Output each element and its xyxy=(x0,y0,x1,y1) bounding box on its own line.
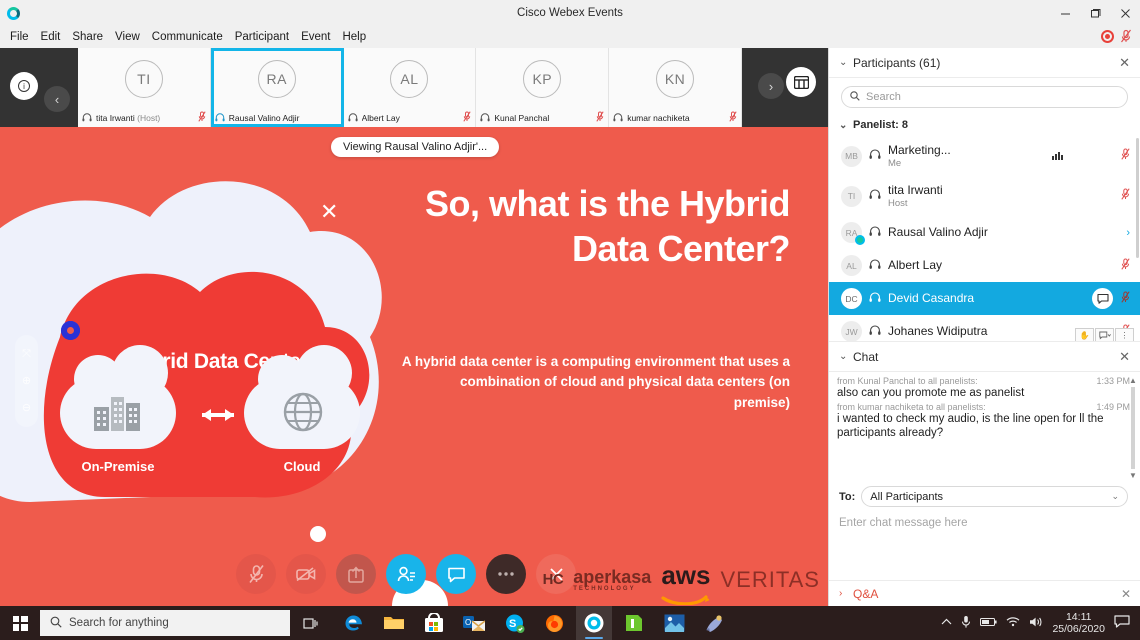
windows-start-icon[interactable] xyxy=(0,606,40,640)
mic-muted-icon xyxy=(198,109,206,127)
chevron-right-icon[interactable]: › xyxy=(1126,227,1130,239)
thumbnail-label-row: Kunal Panchal xyxy=(476,108,608,127)
menu-participant[interactable]: Participant xyxy=(229,29,295,45)
chevron-right-icon[interactable]: › xyxy=(839,588,853,599)
search-input[interactable]: Search xyxy=(841,86,1128,108)
headset-icon xyxy=(869,323,881,341)
headset-icon xyxy=(869,224,881,242)
aws-logo: aws xyxy=(661,565,710,594)
participant-row[interactable]: AL Albert Lay xyxy=(829,249,1140,282)
participants-list: MB Marketing... Me xyxy=(829,136,1140,341)
headset-icon xyxy=(480,109,490,127)
decorative-blue-dot xyxy=(61,321,80,340)
chat-recipient-select[interactable]: All Participants ⌄ xyxy=(861,486,1128,507)
mute-button[interactable] xyxy=(236,554,276,594)
window-controls xyxy=(1050,0,1140,26)
fit-to-screen-icon[interactable]: ⤧ xyxy=(22,348,31,361)
info-icon[interactable]: i xyxy=(10,72,38,100)
close-icon[interactable]: ✕ xyxy=(1119,55,1130,71)
participants-panel-header[interactable]: ⌄ Participants (61) ✕ xyxy=(829,48,1140,78)
qa-panel-header[interactable]: › Q&A ✕ xyxy=(829,580,1140,606)
chat-recipient-value: All Participants xyxy=(870,491,943,503)
on-premise-cloud xyxy=(60,377,176,449)
taskbar-search-placeholder: Search for anything xyxy=(69,617,169,629)
chat-title: Chat xyxy=(853,350,1119,364)
headset-icon xyxy=(82,109,92,127)
thumbstrip-prev-button[interactable]: ‹ xyxy=(44,86,70,112)
aperkasa-logo: aperkasa TECHNOLOGY xyxy=(573,568,651,592)
thumbstrip-left-controls: i ‹ xyxy=(0,48,78,127)
chevron-up-icon[interactable]: ▲ xyxy=(1129,376,1137,385)
participant-name: Marketing... xyxy=(888,143,951,158)
aws-smile-icon xyxy=(661,586,710,594)
microphone-icon[interactable] xyxy=(961,615,971,632)
avatar: KP xyxy=(523,60,561,98)
close-icon[interactable]: ✕ xyxy=(1121,587,1131,601)
minimize-button[interactable] xyxy=(1050,0,1080,26)
headset-icon xyxy=(613,109,623,127)
viewing-indicator: Viewing Rausal Valino Adjir'... xyxy=(331,137,499,157)
mic-muted-icon[interactable] xyxy=(1121,187,1130,205)
mic-muted-icon xyxy=(463,109,471,127)
participant-role: Host xyxy=(888,198,943,209)
raise-hand-icon[interactable]: ✋ xyxy=(1075,328,1094,341)
cloud-cloud xyxy=(244,377,360,449)
bidirectional-arrow-icon xyxy=(192,407,244,423)
notifications-icon[interactable] xyxy=(1114,615,1132,631)
thumbnail-tile[interactable]: TI tita Irwanti (Host) xyxy=(78,48,211,127)
participant-row-selected[interactable]: DC Devid Casandra xyxy=(829,282,1140,315)
buildings-icon xyxy=(90,393,148,438)
participant-name: Rausal Valino Adjir xyxy=(888,225,988,240)
mic-muted-icon xyxy=(729,109,737,127)
mic-muted-icon[interactable] xyxy=(1121,147,1130,165)
participant-row-actions xyxy=(1121,187,1130,205)
headset-icon xyxy=(869,147,881,165)
windows-taskbar: Search for anything O S xyxy=(0,606,1140,640)
title-bar: Cisco Webex Events xyxy=(0,0,1140,26)
green-app-icon[interactable] xyxy=(616,606,652,640)
taskbar-clock[interactable]: 14:11 25/06/2020 xyxy=(1052,611,1105,635)
thumbstrip-next-button[interactable]: › xyxy=(758,73,784,99)
decorative-white-dot xyxy=(310,526,326,542)
chat-message-meta: from kumar nachiketa to all panelists: 1… xyxy=(837,402,1130,412)
show-hidden-icons[interactable] xyxy=(941,617,952,629)
mic-muted-icon[interactable] xyxy=(1121,257,1130,275)
edge-icon[interactable] xyxy=(336,606,372,640)
cloud-label: Cloud xyxy=(244,459,360,474)
thumbnail-name: Albert Lay xyxy=(362,113,400,123)
menu-help[interactable]: Help xyxy=(336,29,372,45)
thumbnail-label-row: Rausal Valino Adjir xyxy=(211,108,343,127)
chat-recipient-bar: To: All Participants ⌄ xyxy=(829,482,1140,509)
system-tray: 14:11 25/06/2020 xyxy=(941,611,1140,635)
chat-message-sender: from kumar nachiketa to all panelists: xyxy=(837,402,1096,412)
avatar: RA xyxy=(841,222,862,243)
cloud-pair: On-Premise xyxy=(60,377,360,497)
volume-icon[interactable] xyxy=(1029,616,1043,631)
participant-row-actions: › xyxy=(1126,227,1130,239)
clock-time: 14:11 xyxy=(1052,611,1105,623)
thumbstrip-right-controls: › xyxy=(742,48,828,127)
share-button[interactable] xyxy=(336,554,376,594)
menu-edit[interactable]: Edit xyxy=(35,29,67,45)
chat-message-text: i wanted to check my audio, is the line … xyxy=(837,412,1130,441)
participants-title: Participants (61) xyxy=(853,56,1119,70)
chat-input-placeholder: Enter chat message here xyxy=(839,517,968,529)
mic-muted-icon xyxy=(596,109,604,127)
skype-icon[interactable]: S xyxy=(496,606,532,640)
participants-button[interactable] xyxy=(386,554,426,594)
chevron-down-icon: ⌄ xyxy=(1111,491,1119,502)
recording-indicator-icon[interactable] xyxy=(1101,30,1114,43)
chevron-down-icon[interactable]: ▼ xyxy=(1129,471,1137,480)
slide-subtext: A hybrid data center is a computing envi… xyxy=(400,352,790,413)
thumbnail-label-row: kumar nachiketa xyxy=(609,108,741,127)
emoji-reaction-icon[interactable] xyxy=(1095,328,1114,341)
window-title: Cisco Webex Events xyxy=(0,7,1140,19)
participant-row-actions xyxy=(1092,288,1130,309)
chat-to-label: To: xyxy=(839,491,855,503)
headset-icon xyxy=(215,109,225,127)
avatar: JW xyxy=(841,321,862,341)
participant-row[interactable]: TI tita Irwanti Host xyxy=(829,176,1140,216)
maximize-button[interactable] xyxy=(1080,0,1110,26)
on-premise-label: On-Premise xyxy=(60,459,176,474)
thumbnail-label-row: Albert Lay xyxy=(344,108,476,127)
webex-events-window: Cisco Webex Events File Edit Share View … xyxy=(0,0,1140,640)
headset-icon xyxy=(869,257,881,275)
participant-name: Albert Lay xyxy=(888,258,942,273)
headset-icon xyxy=(869,187,881,205)
sponsor-logos: HC aperkasa TECHNOLOGY aws VERITAS xyxy=(543,565,820,594)
menu-event[interactable]: Event xyxy=(295,29,336,45)
menu-bar: File Edit Share View Communicate Partici… xyxy=(0,26,1140,48)
taskbar-search-input[interactable]: Search for anything xyxy=(40,610,290,636)
video-button[interactable] xyxy=(286,554,326,594)
search-icon xyxy=(50,616,62,631)
right-side-panel: ⌄ Participants (61) ✕ Search ⌄ Panelist:… xyxy=(828,48,1140,606)
hc-logo: HC xyxy=(543,571,564,588)
firefox-icon[interactable] xyxy=(536,606,572,640)
chat-message: from Kunal Panchal to all panelists: 1:3… xyxy=(837,376,1130,401)
thumbnail-tile[interactable]: AL Albert Lay xyxy=(344,48,477,127)
chat-message-time: 1:49 PM xyxy=(1096,402,1130,412)
paint-3d-icon[interactable] xyxy=(696,606,732,640)
search-icon xyxy=(850,91,860,104)
participant-row-actions xyxy=(1052,147,1130,165)
chat-message-log[interactable]: ▲ ▼ from Kunal Panchal to all panelists:… xyxy=(829,372,1140,482)
participant-role: Me xyxy=(888,158,951,169)
close-button[interactable] xyxy=(1110,0,1140,26)
zoom-out-icon[interactable]: ⊖ xyxy=(22,401,31,414)
presence-indicator-icon xyxy=(855,235,865,245)
qa-title: Q&A xyxy=(853,587,1121,601)
wifi-icon[interactable] xyxy=(1006,616,1020,630)
presentation-stage: Viewing Rausal Valino Adjir'... ✕ Hybrid… xyxy=(0,127,828,606)
panelist-group-label: Panelist: 8 xyxy=(853,119,908,131)
chat-panel-header[interactable]: ⌄ Chat ✕ xyxy=(829,342,1140,372)
thumbnail-name: Kunal Panchal xyxy=(494,113,549,123)
veritas-logo: VERITAS xyxy=(720,567,820,593)
chat-message: from kumar nachiketa to all panelists: 1… xyxy=(837,402,1130,441)
participant-name: tita Irwanti xyxy=(888,183,943,198)
participant-row[interactable]: MB Marketing... Me xyxy=(829,136,1140,176)
chevron-down-icon[interactable]: ⌄ xyxy=(839,57,853,68)
thumbnail-list: TI tita Irwanti (Host) RA xyxy=(78,48,742,127)
chat-button[interactable] xyxy=(436,554,476,594)
search-placeholder: Search xyxy=(866,91,901,103)
thumbnail-label-row: tita Irwanti (Host) xyxy=(78,108,210,127)
clock-date: 25/06/2020 xyxy=(1052,623,1105,635)
menu-file[interactable]: File xyxy=(4,29,35,45)
microsoft-store-icon[interactable] xyxy=(416,606,452,640)
mic-muted-icon[interactable] xyxy=(1120,29,1132,43)
chat-bubble-icon[interactable] xyxy=(1092,288,1113,309)
aperkasa-logo-text: aperkasa xyxy=(573,567,651,587)
video-thumbnail-strip: i ‹ TI tita Irwanti (Host) RA xyxy=(0,48,828,127)
mic-muted-icon[interactable] xyxy=(1121,290,1130,308)
thumbnail-tile[interactable]: KP Kunal Panchal xyxy=(476,48,609,127)
layout-grid-icon[interactable] xyxy=(786,67,816,97)
chat-message-time: 1:33 PM xyxy=(1096,376,1130,386)
thumbnail-name: tita Irwanti (Host) xyxy=(96,113,160,123)
thumbnail-tile[interactable]: KN kumar nachiketa xyxy=(609,48,742,127)
slide-headline: So, what is the Hybrid Data Center? xyxy=(400,182,790,271)
more-options-button[interactable] xyxy=(486,554,526,594)
avatar: MB xyxy=(841,146,862,167)
participant-name: Johanes Widiputra xyxy=(888,324,987,339)
participant-row[interactable]: RA Rausal Valino Adjir › xyxy=(829,216,1140,249)
participant-row-actions xyxy=(1121,257,1130,275)
participant-hover-actions: ✋ ⋮ xyxy=(1075,328,1134,341)
menu-view[interactable]: View xyxy=(109,29,146,45)
battery-icon[interactable] xyxy=(980,617,997,630)
outlook-icon[interactable]: O xyxy=(456,606,492,640)
avatar: AL xyxy=(390,60,428,98)
zoom-controls: ⤧ ⊕ ⊖ xyxy=(15,335,38,427)
svg-text:S: S xyxy=(509,618,516,630)
avatar: RA xyxy=(258,60,296,98)
avatar: TI xyxy=(841,186,862,207)
zoom-in-icon[interactable]: ⊕ xyxy=(22,374,31,387)
taskbar-app-icons: O S xyxy=(336,606,732,640)
avatar: DC xyxy=(841,288,862,309)
thumbnail-name: kumar nachiketa xyxy=(627,113,689,123)
taskbar-active-underline xyxy=(585,637,603,639)
avatar: AL xyxy=(841,255,862,276)
chat-scrollbar[interactable]: ▲ ▼ xyxy=(1128,376,1138,480)
close-icon[interactable]: ✕ xyxy=(1119,349,1130,365)
menu-bar-status-icons xyxy=(1101,29,1132,43)
panelist-group-header[interactable]: ⌄ Panelist: 8 xyxy=(829,114,1140,136)
chat-message-meta: from Kunal Panchal to all panelists: 1:3… xyxy=(837,376,1130,386)
file-explorer-icon[interactable] xyxy=(376,606,412,640)
slide-graphic: Hybrid Data Center xyxy=(0,162,420,582)
task-view-icon[interactable] xyxy=(290,617,330,630)
webex-icon[interactable] xyxy=(576,606,612,640)
photos-icon[interactable] xyxy=(656,606,692,640)
menu-share[interactable]: Share xyxy=(66,29,109,45)
participant-name: Devid Casandra xyxy=(888,291,974,306)
chat-section: ⌄ Chat ✕ ▲ ▼ from Kunal Panchal to all p… xyxy=(829,341,1140,555)
headset-icon xyxy=(348,109,358,127)
chevron-down-icon[interactable]: ⌄ xyxy=(839,351,853,362)
chat-message-sender: from Kunal Panchal to all panelists: xyxy=(837,376,1096,386)
participants-search-wrap: Search xyxy=(829,78,1140,114)
chat-message-text: also can you promote me as panelist xyxy=(837,386,1130,401)
avatar: KN xyxy=(656,60,694,98)
globe-icon xyxy=(282,391,324,438)
svg-text:O: O xyxy=(465,618,471,627)
thumbnail-name: Rausal Valino Adjir xyxy=(229,113,300,123)
chat-input[interactable]: Enter chat message here xyxy=(829,509,1140,555)
more-actions-icon[interactable]: ⋮ xyxy=(1115,328,1134,341)
thumbnail-tile-active[interactable]: RA Rausal Valino Adjir xyxy=(211,48,344,127)
chevron-down-icon[interactable]: ⌄ xyxy=(839,120,853,131)
menu-communicate[interactable]: Communicate xyxy=(146,29,229,45)
headset-icon xyxy=(869,290,881,308)
avatar: TI xyxy=(125,60,163,98)
audio-level-icon xyxy=(1052,147,1063,165)
